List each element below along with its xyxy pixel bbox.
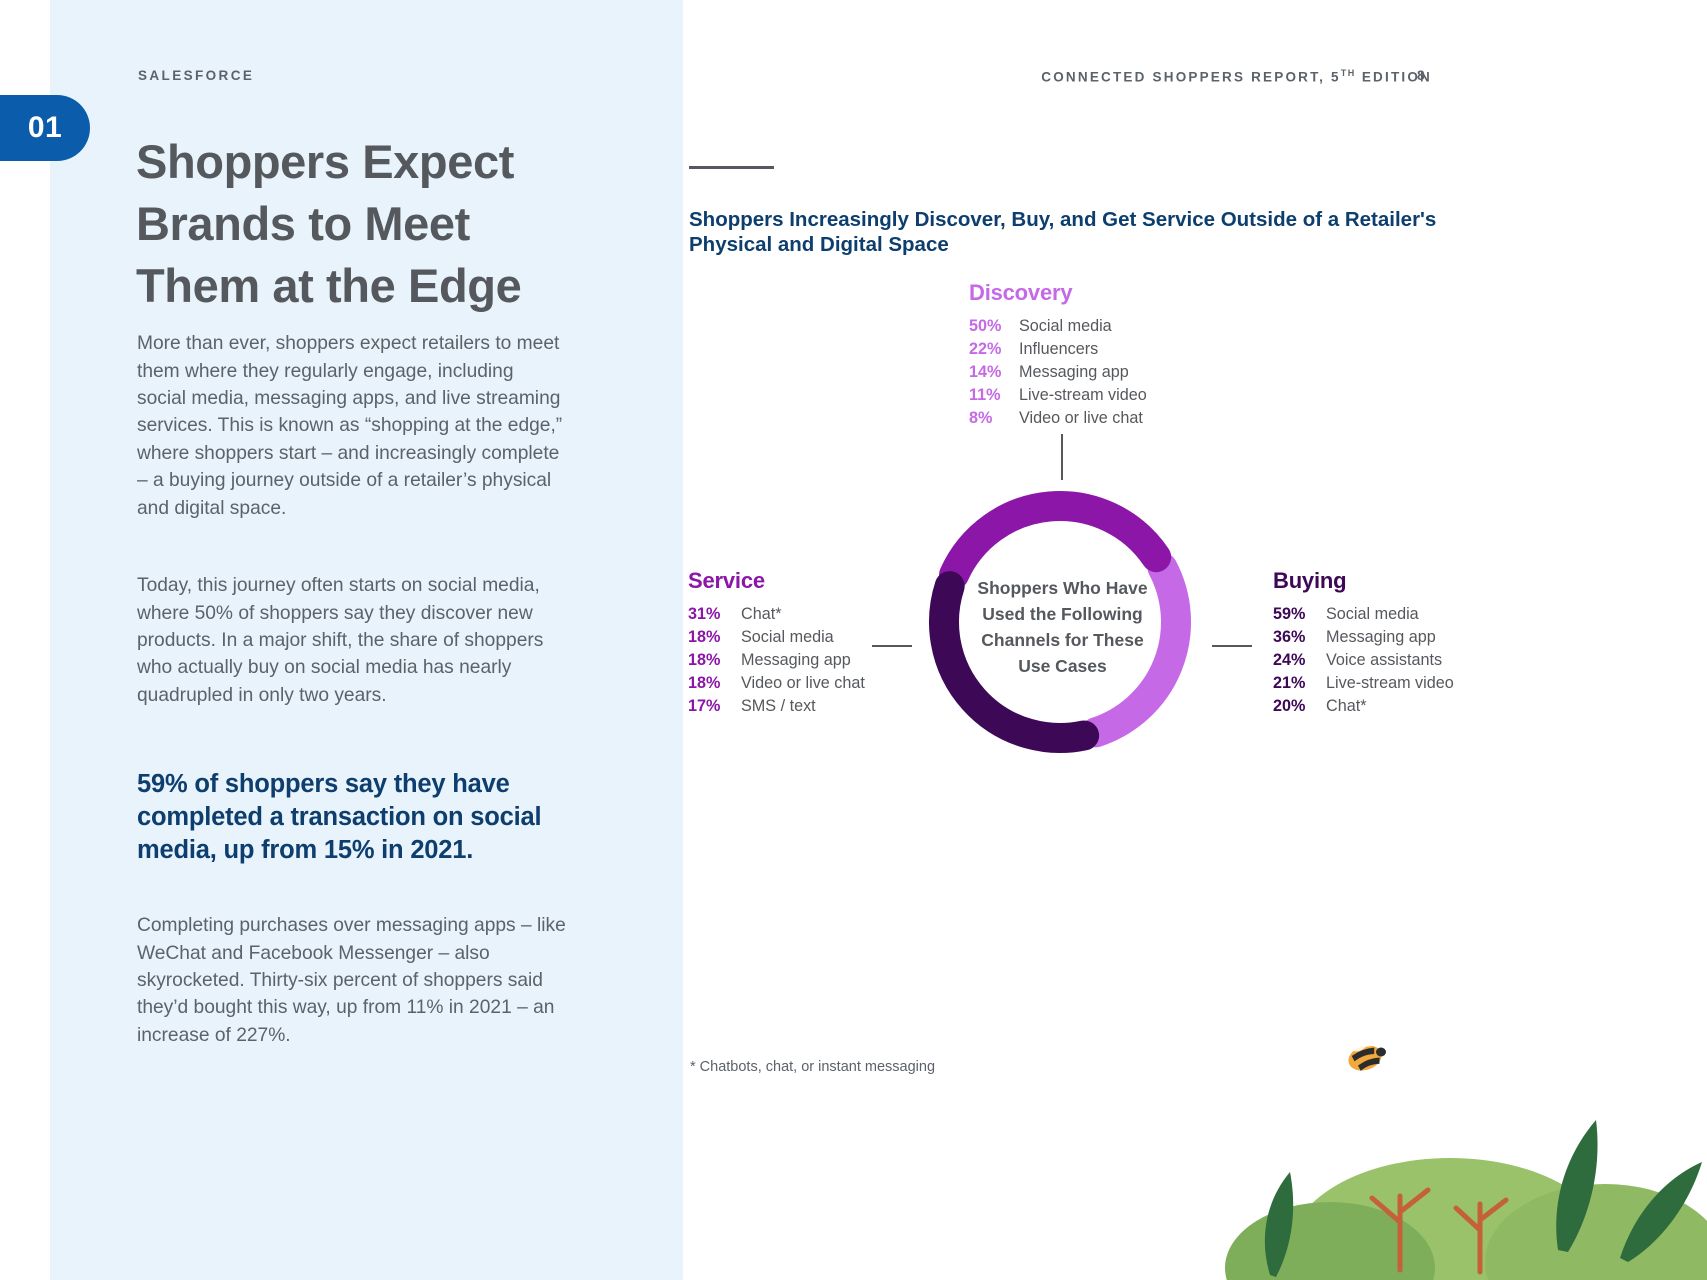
legend-row-value: 36%	[1273, 626, 1326, 649]
legend-row: 31%Chat*	[688, 603, 865, 626]
legend-row: 22%Influencers	[969, 338, 1147, 361]
legend-row-value: 18%	[688, 649, 741, 672]
donut-center-line-3: Channels for These	[981, 627, 1143, 653]
running-header-ordinal: TH	[1341, 68, 1356, 78]
connector-line-buying	[1212, 645, 1252, 647]
legend-row-label: Chat*	[1326, 695, 1367, 718]
legend-row-label: Live-stream video	[1019, 384, 1147, 407]
chapter-number-badge: 01	[0, 95, 90, 161]
chapter-number-label: 01	[28, 111, 62, 145]
legend-row-value: 50%	[969, 315, 1019, 338]
legend-service-rows: 31%Chat*18%Social media18%Messaging app1…	[688, 603, 865, 718]
legend-row-value: 59%	[1273, 603, 1326, 626]
legend-buying-rows: 59%Social media36%Messaging app24%Voice …	[1273, 603, 1454, 718]
legend-buying: Buying 59%Social media36%Messaging app24…	[1273, 568, 1454, 718]
brand-eyebrow: SALESFORCE	[138, 68, 254, 83]
legend-row: 59%Social media	[1273, 603, 1454, 626]
legend-row-label: Messaging app	[1019, 361, 1129, 384]
report-page: 01 SALESFORCE Shoppers Expect Brands to …	[0, 0, 1707, 1280]
legend-row: 17%SMS / text	[688, 695, 865, 718]
bee-icon	[1345, 1034, 1386, 1075]
legend-row: 24%Voice assistants	[1273, 649, 1454, 672]
chart-title: Shoppers Increasingly Discover, Buy, and…	[689, 207, 1449, 257]
legend-discovery-title: Discovery	[969, 280, 1147, 306]
legend-row: 8%Video or live chat	[969, 407, 1147, 430]
legend-row-label: Messaging app	[741, 649, 851, 672]
legend-row-value: 18%	[688, 626, 741, 649]
legend-row-value: 21%	[1273, 672, 1326, 695]
legend-row: 50%Social media	[969, 315, 1147, 338]
legend-row-value: 24%	[1273, 649, 1326, 672]
legend-row-label: Influencers	[1019, 338, 1098, 361]
running-header-prefix: CONNECTED SHOPPERS REPORT, 5	[1041, 70, 1340, 85]
legend-row-label: Social media	[741, 626, 834, 649]
legend-row-label: Social media	[1326, 603, 1419, 626]
legend-buying-title: Buying	[1273, 568, 1454, 594]
legend-row-value: 11%	[969, 384, 1019, 407]
legend-row-label: Chat*	[741, 603, 782, 626]
legend-row-label: Social media	[1019, 315, 1112, 338]
foliage-decoration-svg	[1150, 1000, 1707, 1280]
legend-row-value: 18%	[688, 672, 741, 695]
legend-service-title: Service	[688, 568, 865, 594]
legend-row-label: Messaging app	[1326, 626, 1436, 649]
body-paragraph-2: Today, this journey often starts on soci…	[137, 572, 567, 709]
foliage-decoration	[1150, 1000, 1707, 1280]
legend-row: 21%Live-stream video	[1273, 672, 1454, 695]
title-rule	[689, 166, 774, 169]
legend-row-value: 8%	[969, 407, 1019, 430]
legend-discovery: Discovery 50%Social media22%Influencers1…	[969, 280, 1147, 430]
legend-row: 18%Messaging app	[688, 649, 865, 672]
stat-callout: 59% of shoppers say they have completed …	[137, 768, 572, 867]
donut-center-line-4: Use Cases	[1018, 653, 1107, 679]
legend-row: 18%Social media	[688, 626, 865, 649]
legend-row: 11%Live-stream video	[969, 384, 1147, 407]
donut-center-line-1: Shoppers Who Have	[977, 575, 1147, 601]
legend-row: 14%Messaging app	[969, 361, 1147, 384]
legend-row: 20%Chat*	[1273, 695, 1454, 718]
legend-service: Service 31%Chat*18%Social media18%Messag…	[688, 568, 865, 718]
legend-row-value: 14%	[969, 361, 1019, 384]
chart-footnote: * Chatbots, chat, or instant messaging	[690, 1059, 935, 1075]
legend-row-value: 31%	[688, 603, 741, 626]
body-paragraph-1: More than ever, shoppers expect retailer…	[137, 330, 567, 522]
legend-row-value: 22%	[969, 338, 1019, 361]
legend-discovery-rows: 50%Social media22%Influencers14%Messagin…	[969, 315, 1147, 430]
legend-row-label: Voice assistants	[1326, 649, 1442, 672]
page-number: 8	[1417, 68, 1426, 83]
donut-segment-service	[954, 506, 1156, 575]
legend-row-label: Live-stream video	[1326, 672, 1454, 695]
body-paragraph-3: Completing purchases over messaging apps…	[137, 912, 567, 1049]
legend-row-label: SMS / text	[741, 695, 816, 718]
legend-row-value: 17%	[688, 695, 741, 718]
legend-row: 18%Video or live chat	[688, 672, 865, 695]
donut-center-label: Shoppers Who Have Used the Following Cha…	[960, 572, 1165, 682]
legend-row-value: 20%	[1273, 695, 1326, 718]
legend-row: 36%Messaging app	[1273, 626, 1454, 649]
legend-row-label: Video or live chat	[741, 672, 865, 695]
page-title: Shoppers Expect Brands to Meet Them at t…	[136, 131, 606, 317]
running-header: CONNECTED SHOPPERS REPORT, 5TH EDITION	[1041, 68, 1432, 85]
legend-row-label: Video or live chat	[1019, 407, 1143, 430]
connector-line-service	[872, 645, 912, 647]
donut-center-line-2: Used the Following	[982, 601, 1142, 627]
